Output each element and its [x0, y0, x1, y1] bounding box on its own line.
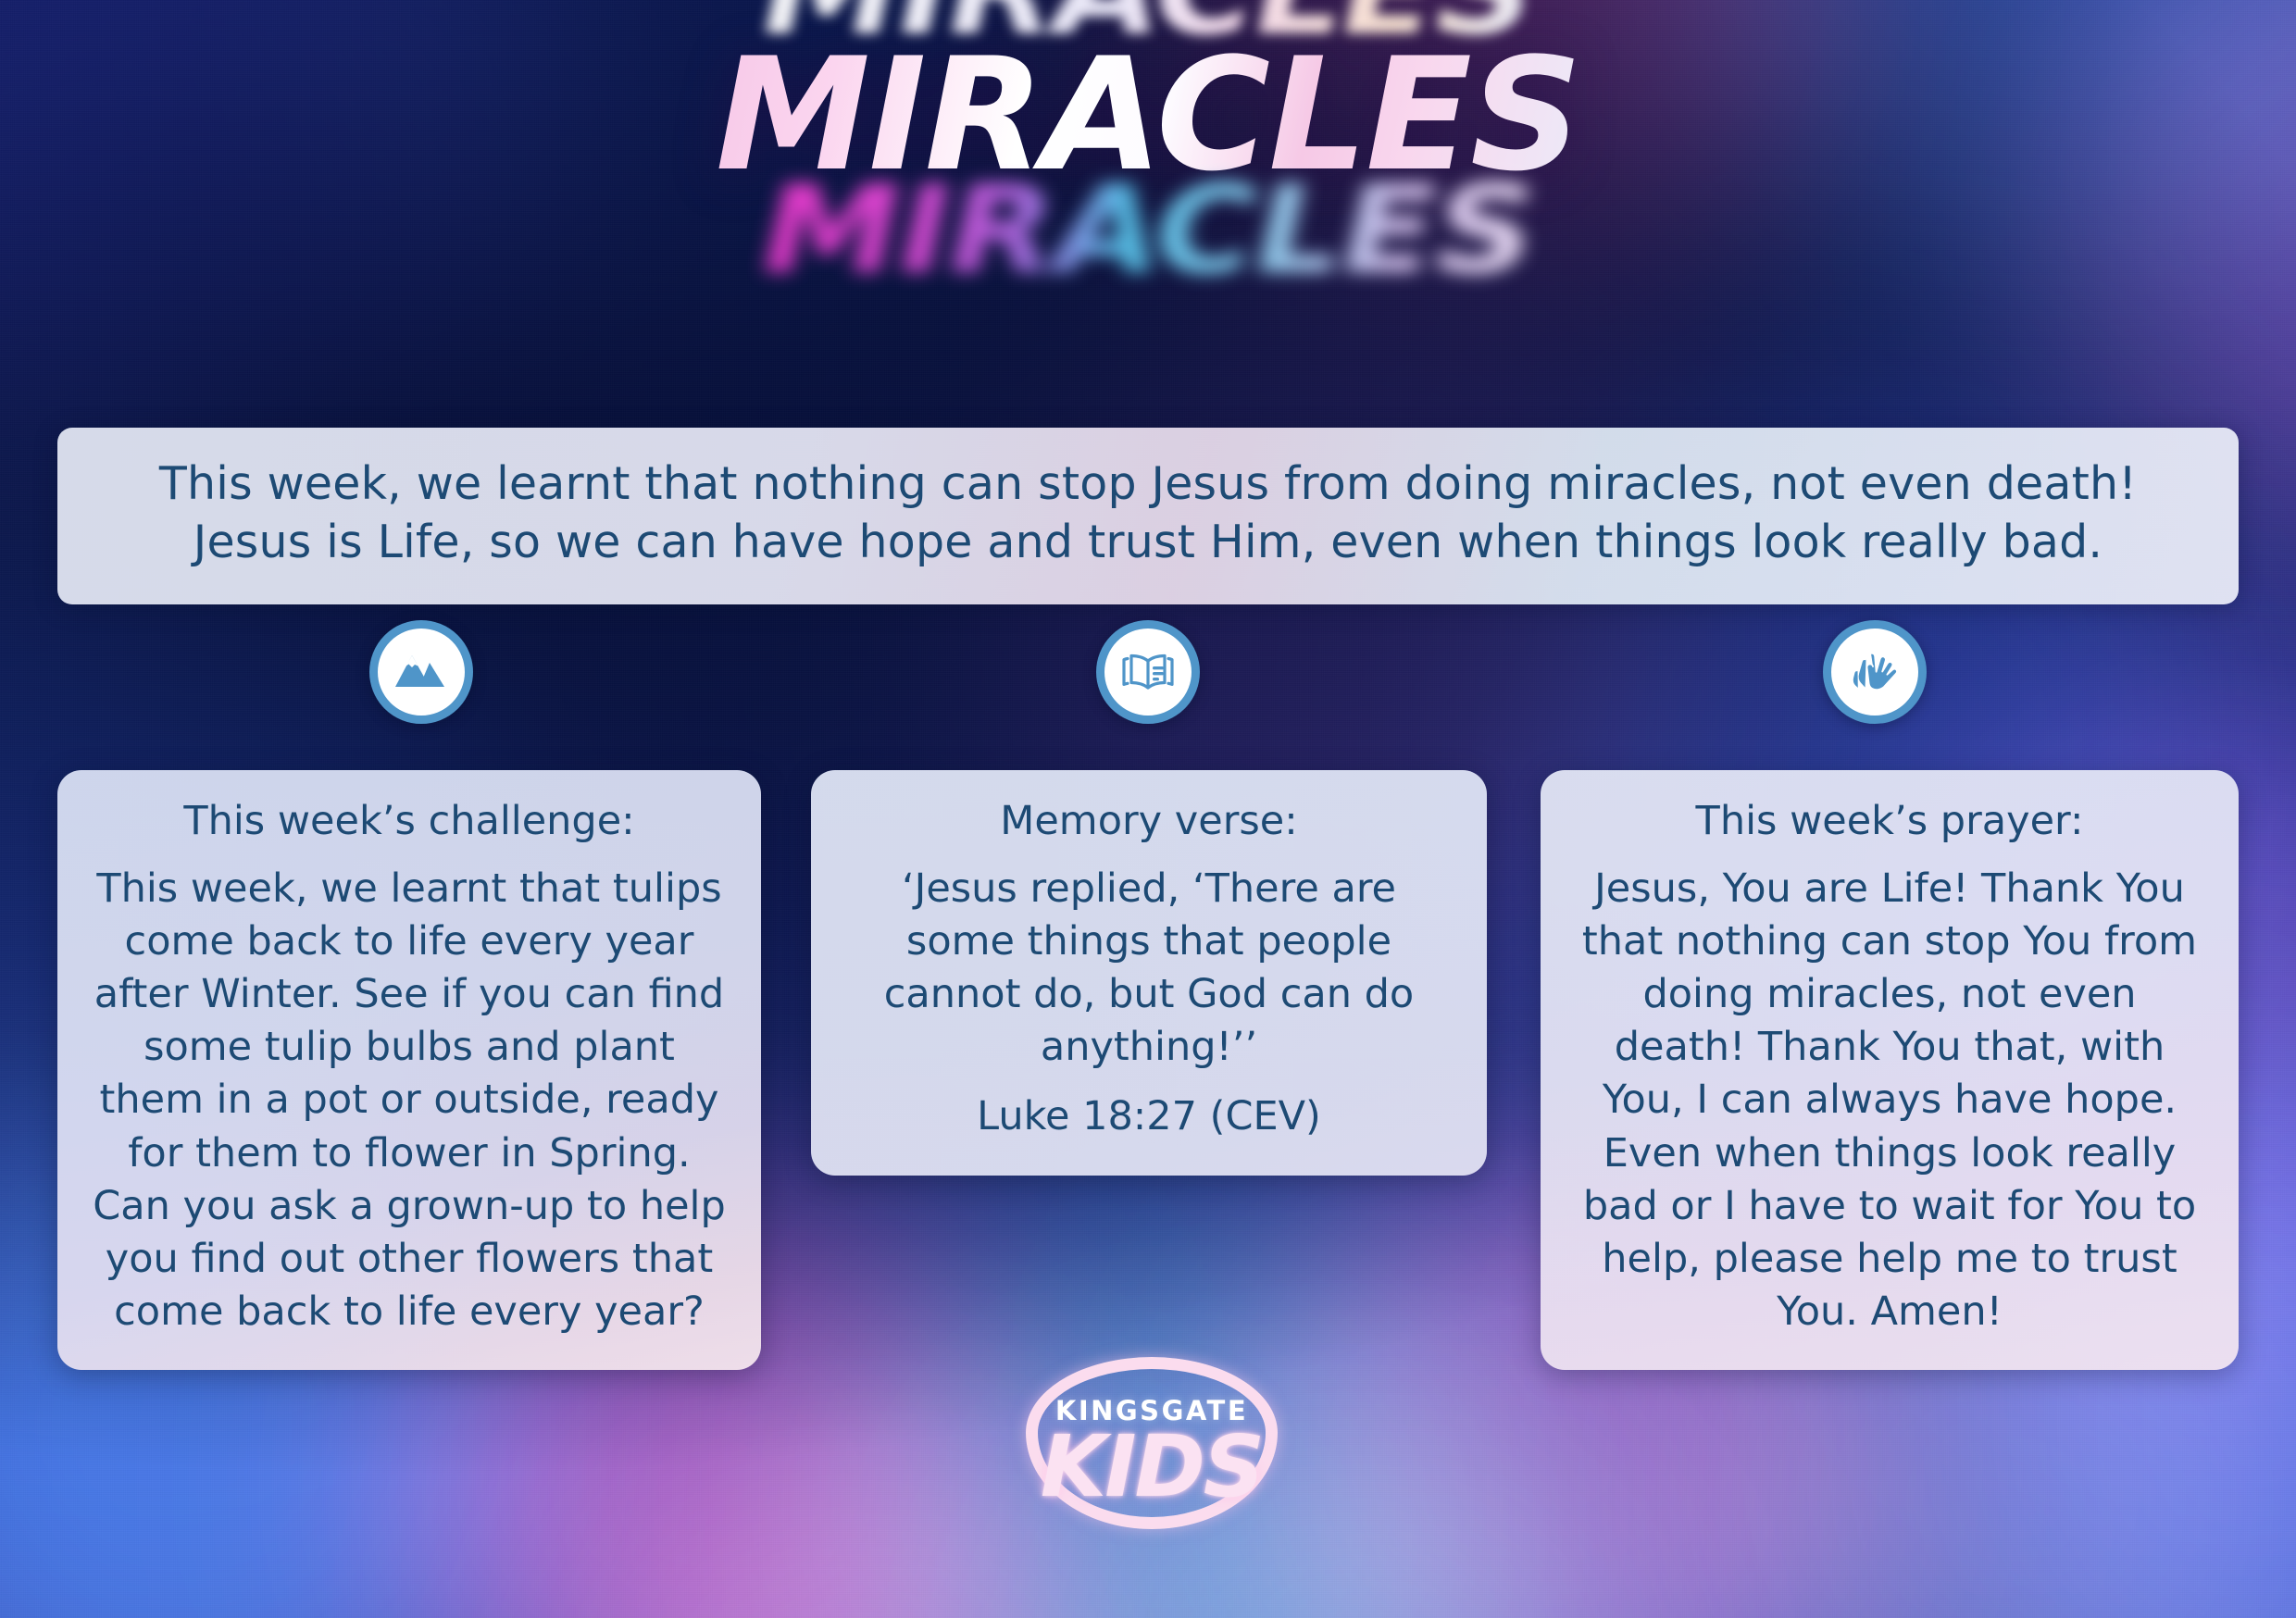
memory-verse-card-body: ‘Jesus replied, ‘There are some things t…	[842, 863, 1455, 1075]
challenge-card-body: This week, we learnt that tulips come ba…	[89, 863, 730, 1339]
challenge-card: This week’s challenge: This week, we lea…	[57, 770, 761, 1370]
icon-row	[57, 616, 2239, 728]
kingsgate-kids-logo: KINGSGATE KIDS	[1026, 1357, 1278, 1529]
challenge-card-heading: This week’s challenge:	[89, 798, 730, 846]
icon-slot-challenge	[57, 616, 784, 728]
icon-slot-prayer	[1512, 616, 2239, 728]
memory-verse-card-heading: Memory verse:	[842, 798, 1455, 846]
prayer-card-heading: This week’s prayer:	[1572, 798, 2207, 846]
prayer-card-body: Jesus, You are Life! Thank You that noth…	[1572, 863, 2207, 1339]
praying-hands-icon	[1823, 620, 1927, 724]
weekly-summary-text: This week, we learnt that nothing can st…	[98, 455, 2198, 571]
logo-main-line: KIDS	[1041, 1428, 1263, 1507]
memory-verse-card: Memory verse: ‘Jesus replied, ‘There are…	[811, 770, 1487, 1176]
open-book-icon	[1096, 620, 1200, 724]
memory-verse-reference: Luke 18:27 (CEV)	[842, 1090, 1455, 1143]
weekly-summary-banner: This week, we learnt that nothing can st…	[57, 428, 2239, 604]
prayer-card: This week’s prayer: Jesus, You are Life!…	[1541, 770, 2239, 1370]
mountain-icon	[369, 620, 473, 724]
slide-canvas: MIRACLES MIRACLES MIRACLES This week, we…	[0, 0, 2296, 1618]
icon-slot-verse	[784, 616, 1511, 728]
